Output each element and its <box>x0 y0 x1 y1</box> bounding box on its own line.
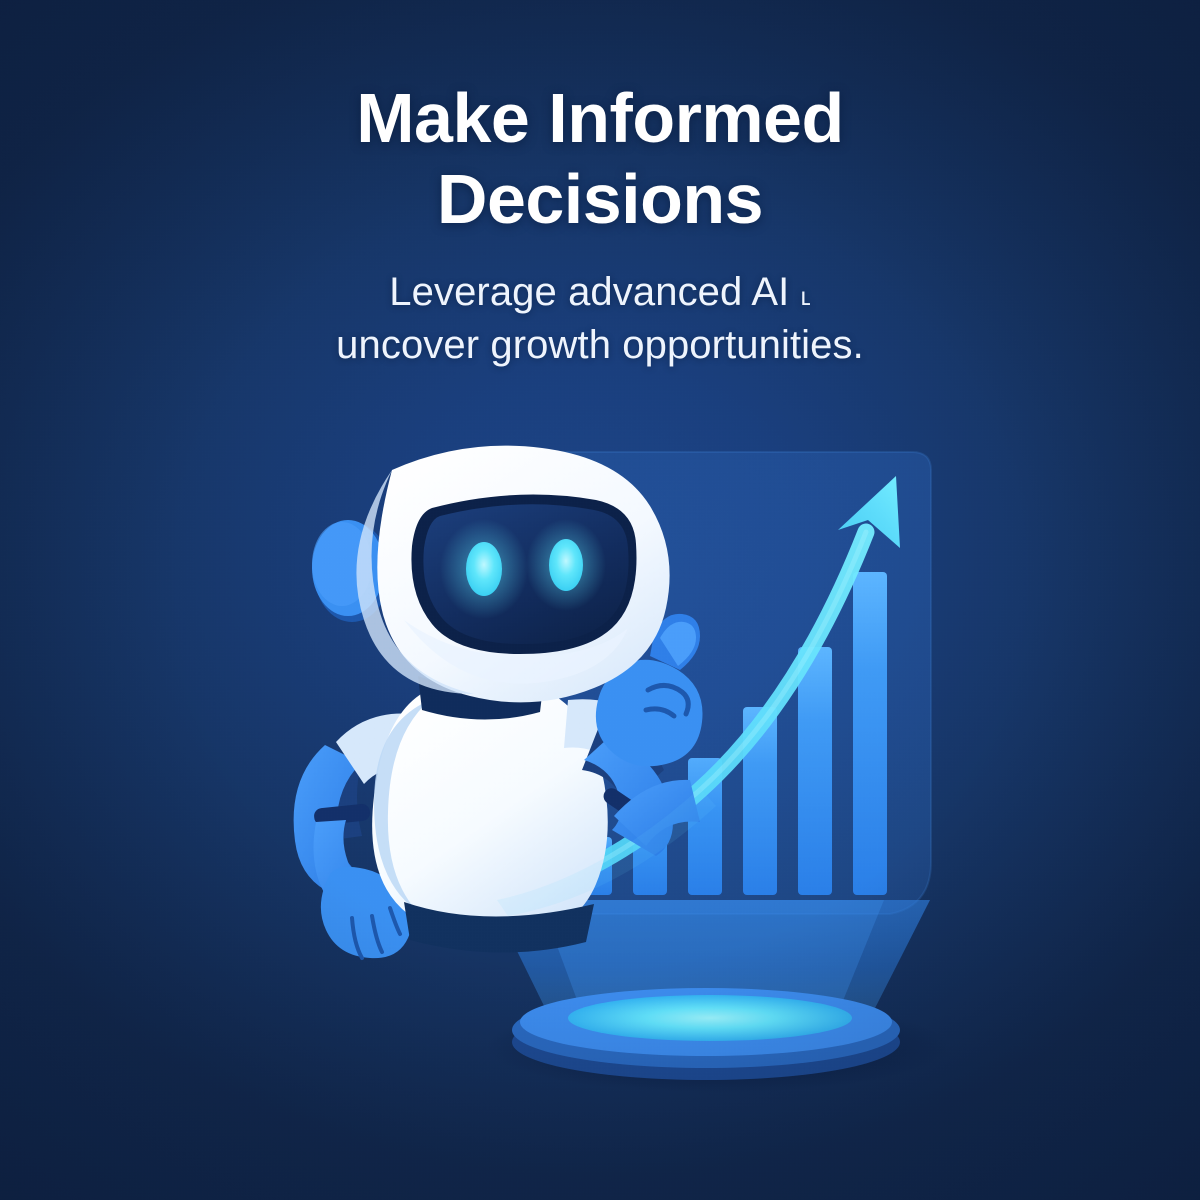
robot-eye <box>466 542 502 596</box>
robot-eye <box>549 539 583 591</box>
hologram-base <box>512 988 900 1080</box>
page-title: Make Informed Decisions <box>0 78 1200 240</box>
subhead-truncated-glyph: ʟ <box>801 283 811 311</box>
subhead-line-2: uncover growth opportunities. <box>0 319 1200 372</box>
hero-text-block: Make Informed Decisions Leverage advance… <box>0 78 1200 372</box>
chart-bar <box>798 647 832 895</box>
page-subtitle: Leverage advanced AI ʟ uncover growth op… <box>0 266 1200 372</box>
headline-line-1: Make Informed <box>0 78 1200 159</box>
robot-head <box>312 446 670 703</box>
subhead-line-1: Leverage advanced AI ʟ <box>0 266 1200 319</box>
headline-line-2: Decisions <box>0 159 1200 240</box>
chart-bar <box>853 572 887 895</box>
subhead-line-1-text: Leverage advanced AI <box>389 270 800 314</box>
poster-canvas: Make Informed Decisions Leverage advance… <box>0 0 1200 1200</box>
hologram-base-glow <box>568 995 852 1041</box>
